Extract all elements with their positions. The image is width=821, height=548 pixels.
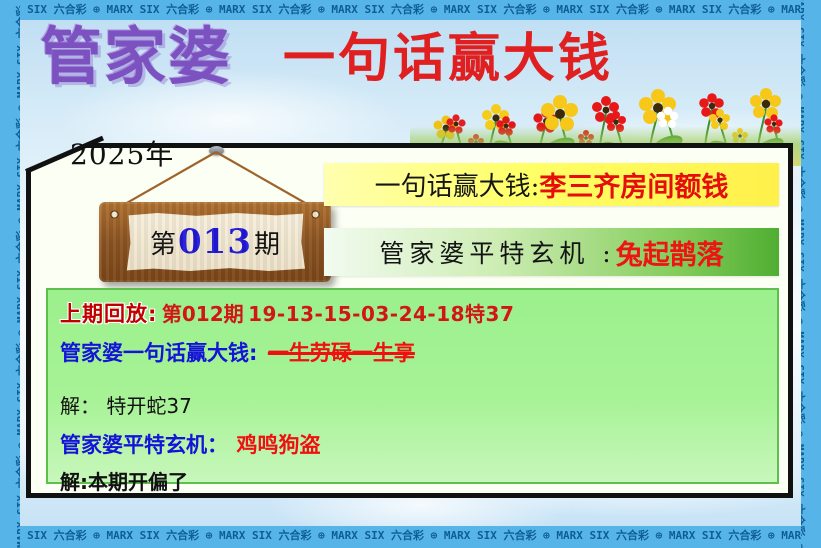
banner-phrase-win-label: 一句话赢大钱: (375, 166, 540, 203)
marquee-border-bottom: MARX SIX 六合彩 ⊕ MARX SIX 六合彩 ⊕ MARX SIX 六… (0, 526, 821, 548)
replay-issue: 第012期 (162, 302, 244, 326)
marquee-text-bottom: MARX SIX 六合彩 ⊕ MARX SIX 六合彩 ⊕ MARX SIX 六… (0, 529, 821, 543)
replay-numbers: 19-13-15-03-24-18特37 (248, 302, 514, 326)
marquee-border-right: MARX SIX 六合彩 ⊕ MARX SIX 六合彩 ⊕ MARX SIX 六… (801, 0, 821, 548)
issue-number: 013 (178, 222, 252, 262)
banner-phrase-win: 一句话赢大钱: 李三齐房间额钱 (324, 163, 779, 206)
previous-results-panel: 上期回放: 第012期 19-13-15-03-24-18特37 管家婆一句话赢… (46, 288, 779, 484)
last-phrase-answer-row: 解： 特开蛇37 (60, 396, 765, 417)
banner-riddle-value: 兔起鹊落 (616, 233, 724, 272)
issue-sign-paper: 第 013 期 (125, 213, 305, 271)
last-phrase-label: 管家婆一句话赢大钱: (60, 341, 257, 365)
marquee-border-left: MARX SIX 六合彩 ⊕ MARX SIX 六合彩 ⊕ MARX SIX 六… (0, 0, 20, 548)
banner-phrase-win-value: 李三齐房间额钱 (539, 165, 728, 204)
last-riddle-answer-row: 解:本期开偏了 (60, 472, 765, 493)
replay-label: 上期回放: (60, 302, 157, 326)
last-riddle-answer-text: 解:本期开偏了 (60, 470, 188, 494)
issue-prefix: 第 (150, 224, 176, 261)
banner-riddle: 管家婆平特玄机 : 兔起鹊落 (324, 228, 779, 276)
marquee-text-left: MARX SIX 六合彩 ⊕ MARX SIX 六合彩 ⊕ MARX SIX 六… (15, 0, 20, 548)
last-riddle-row: 管家婆平特玄机： 鸡鸣狗盗 (60, 435, 765, 456)
brand-title: 管家婆 (40, 26, 232, 88)
replay-row: 上期回放: 第012期 19-13-15-03-24-18特37 (60, 304, 765, 325)
last-riddle-value: 鸡鸣狗盗 (236, 433, 320, 457)
last-phrase-value: 一生劳碌一生享 (268, 341, 415, 365)
board-hole-left (110, 210, 119, 219)
issue-sign-board: 第 013 期 (99, 202, 331, 282)
page-tagline: 一句话赢大钱 (283, 33, 613, 85)
last-phrase-answer-text: 解： 特开蛇37 (60, 394, 192, 418)
board-hole-right (311, 210, 320, 219)
issue-suffix: 期 (254, 224, 280, 261)
last-riddle-label: 管家婆平特玄机： (60, 433, 228, 457)
last-phrase-row: 管家婆一句话赢大钱: 一生劳碌一生享 (60, 343, 765, 364)
marquee-text-right: MARX SIX 六合彩 ⊕ MARX SIX 六合彩 ⊕ MARX SIX 六… (801, 0, 806, 548)
issue-label: 第 013 期 (125, 213, 305, 271)
marquee-text-top: MARX SIX 六合彩 ⊕ MARX SIX 六合彩 ⊕ MARX SIX 六… (0, 3, 821, 17)
marquee-border-top: MARX SIX 六合彩 ⊕ MARX SIX 六合彩 ⊕ MARX SIX 六… (0, 0, 821, 20)
banner-riddle-label: 管家婆平特玄机 : (379, 234, 615, 270)
poster-canvas: 管家婆 一句话赢大钱 2025年 第 013 期 一句话赢大钱: 李三齐房间额钱… (0, 0, 821, 548)
